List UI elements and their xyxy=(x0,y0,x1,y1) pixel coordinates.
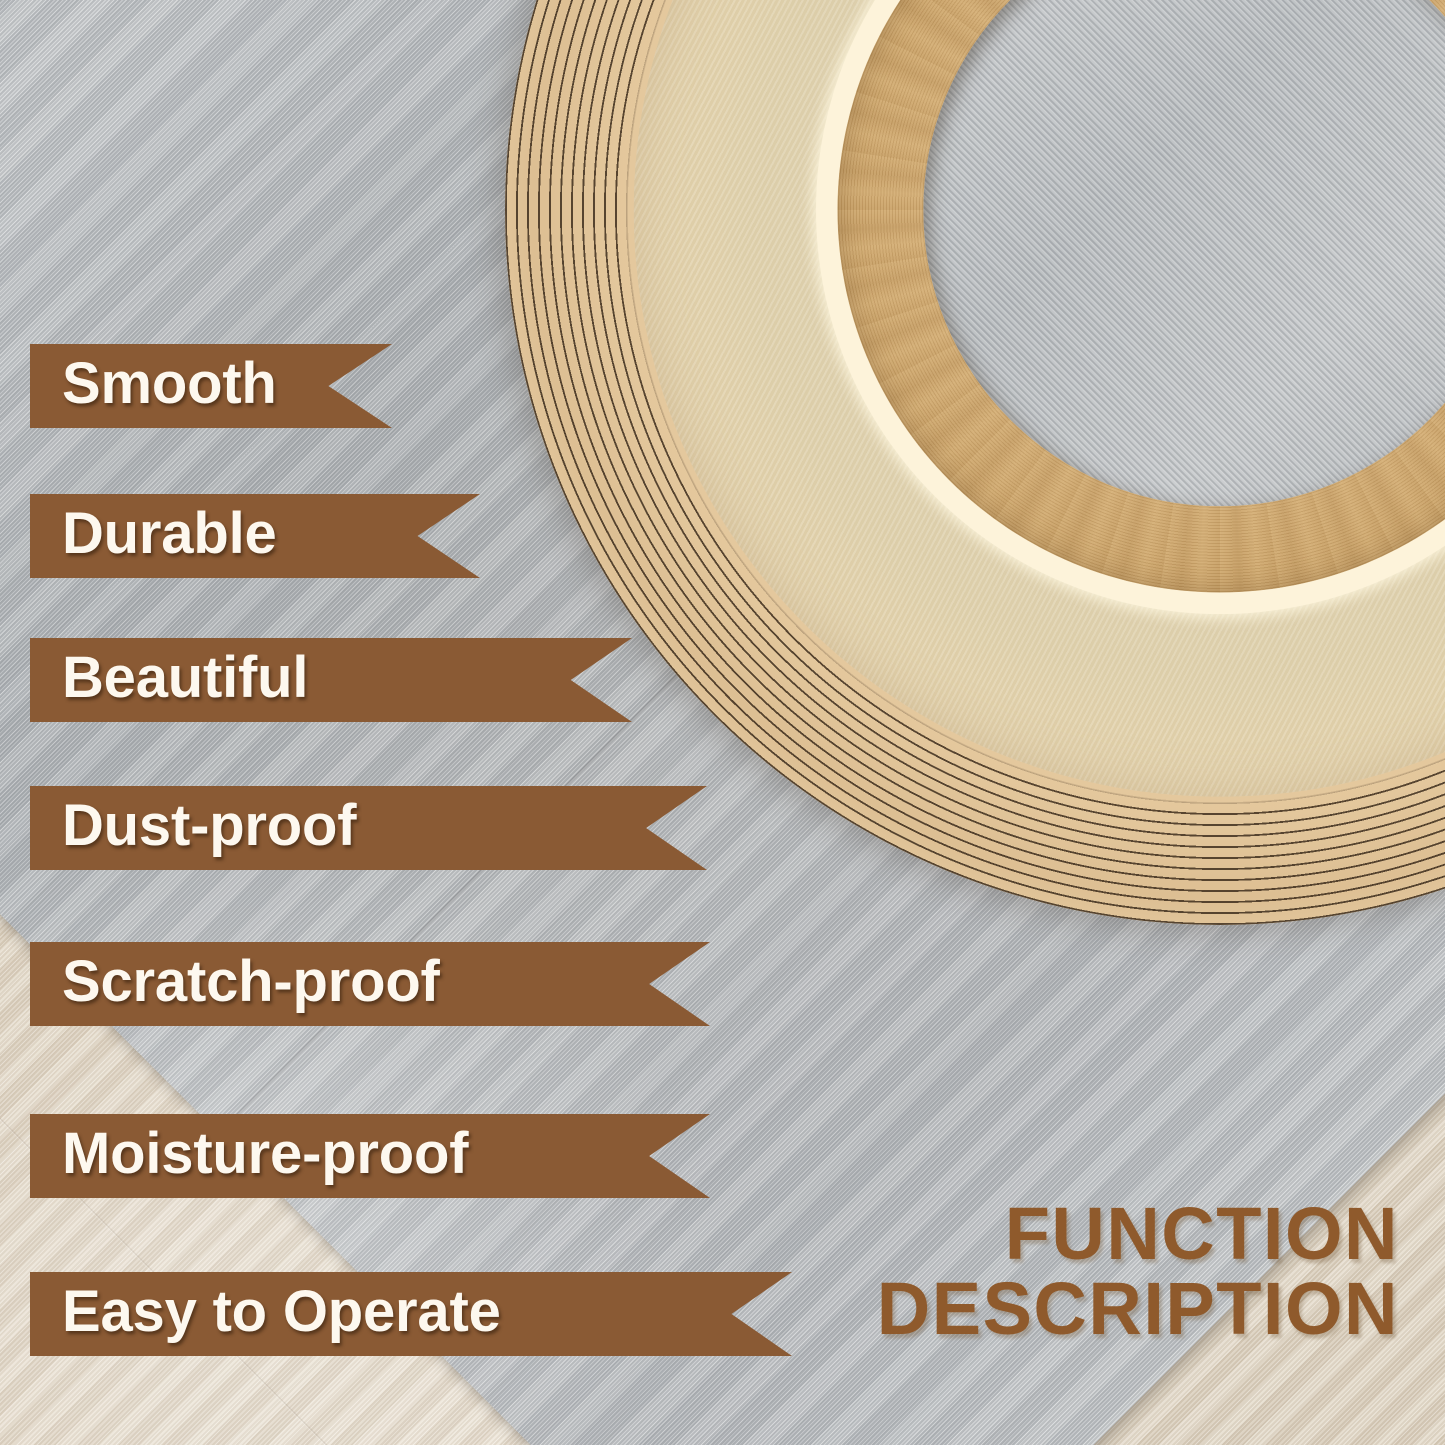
feature-ribbon-label: Smooth xyxy=(62,355,277,413)
feature-ribbon-label: Easy to Operate xyxy=(62,1283,501,1341)
feature-ribbon-label: Durable xyxy=(62,505,277,563)
feature-ribbon-label: Dust-proof xyxy=(62,797,356,855)
function-description-heading: FUNCTION DESCRIPTION xyxy=(877,1196,1399,1347)
heading-line-1: FUNCTION xyxy=(877,1196,1399,1271)
feature-ribbon-label: Moisture-proof xyxy=(62,1125,468,1183)
feature-ribbon[interactable]: Easy to Operate xyxy=(30,1272,792,1356)
feature-ribbon[interactable]: Scratch-proof xyxy=(30,942,710,1026)
feature-ribbon[interactable]: Dust-proof xyxy=(30,786,707,870)
feature-ribbon-label: Scratch-proof xyxy=(62,953,440,1011)
feature-ribbon-label: Beautiful xyxy=(62,649,308,707)
product-feature-image: Smooth Durable Beautiful Dust-proof Scra… xyxy=(0,0,1445,1445)
feature-ribbon[interactable]: Durable xyxy=(30,494,480,578)
heading-line-2: DESCRIPTION xyxy=(877,1271,1399,1346)
feature-ribbon[interactable]: Beautiful xyxy=(30,638,632,722)
feature-ribbon[interactable]: Moisture-proof xyxy=(30,1114,710,1198)
